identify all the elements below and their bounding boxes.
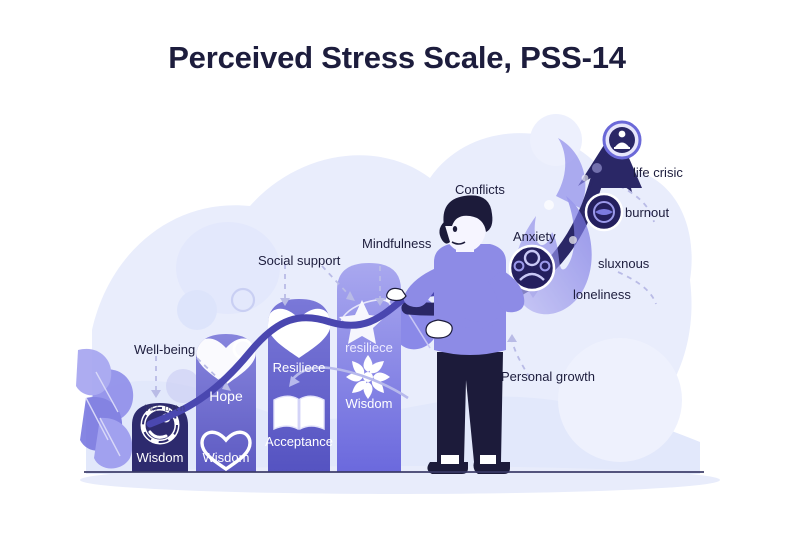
bar-1-note: W/ bitn (145, 403, 187, 413)
annotation-life-crisic: life crisic (633, 165, 683, 180)
annotation-conflicts: Conflicts (455, 182, 505, 197)
bar-3-inner-label: Resiliece (262, 360, 336, 375)
annotation-personal-growth: Personal growth (501, 369, 595, 384)
annotation-sluxnous: sluxnous (598, 256, 649, 271)
bar-1-base-label: Wisdom (132, 450, 188, 465)
annotation-burnout: burnout (625, 205, 669, 220)
open-book-icon (274, 396, 324, 429)
badge-globe-upper[interactable] (586, 194, 622, 230)
bar-4-base-label: Wisdom (334, 396, 404, 411)
annotation-social-support: Social support (258, 253, 340, 268)
annotation-well-being: Well-being (134, 342, 195, 357)
bar-2-inner-label: Hope (196, 388, 256, 404)
bar-3-base-label: Acceptance (256, 434, 342, 449)
annotation-mindfulness: Mindfulness (362, 236, 431, 251)
baseline-axis (84, 471, 704, 473)
annotation-loneliness: loneliness (573, 287, 631, 302)
illustration-canvas: Perceived Stress Scale, PSS-14 (0, 0, 794, 556)
bar-4-inner-label: resiliece (334, 340, 404, 355)
badge-bell-person[interactable] (604, 122, 640, 158)
annotation-anxiety: Anxiety (513, 229, 556, 244)
bar-2-base-label: Wisdom (194, 450, 258, 465)
